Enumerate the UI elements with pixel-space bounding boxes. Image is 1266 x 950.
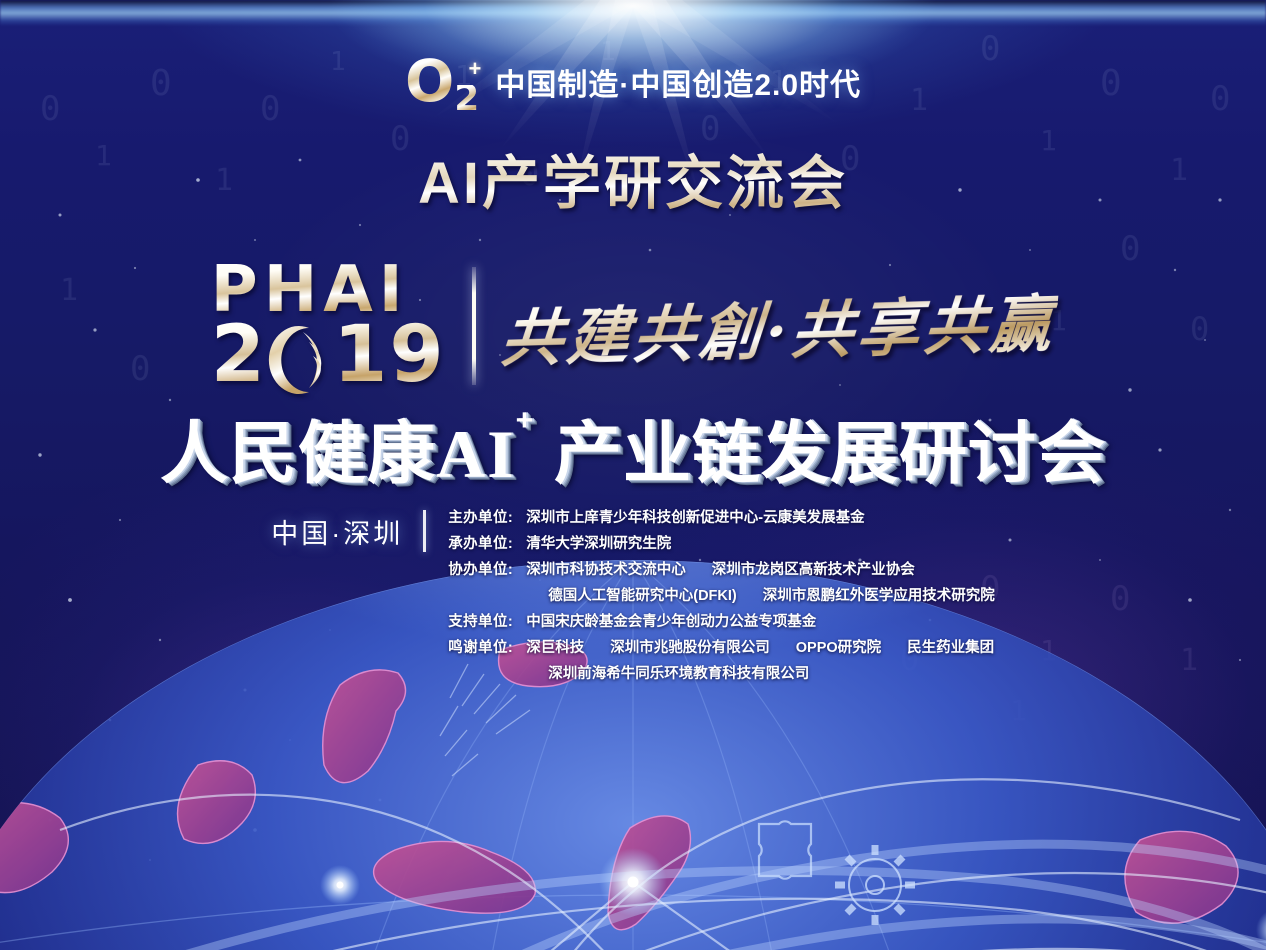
organizer-name: OPPO研究院 [796,636,881,657]
calligraphy-slogan: 共建共創·共享共赢 [497,273,1059,378]
city-divider [423,510,426,552]
organizer-name: 深圳市上庠青少年科技创新促进中心-云康美发展基金 [526,506,864,527]
organizer-line: 主办单位:深圳市上庠青少年科技创新促进中心-云康美发展基金 [448,506,995,527]
organizer-values: 深圳市科协技术交流中心深圳市龙岗区高新技术产业协会 [526,558,915,579]
organizer-name: 深圳市恩鹏红外医学应用技术研究院 [763,584,995,605]
feather-swoosh-icon [267,316,333,394]
city-block: 中国·深圳 [271,504,426,552]
organizer-line: 支持单位:中国宋庆龄基金会青少年创动力公益专项基金 [448,610,995,631]
organizer-name: 德国人工智能研究中心(DFKI) [548,584,737,605]
credits-row: 中国·深圳 主办单位:深圳市上庠青少年科技创新促进中心-云康美发展基金承办单位:… [0,504,1266,683]
kicker-tagline: 中国制造·中国创造2.0时代 [495,60,861,104]
organizer-values: 深圳前海希牛同乐环境教育科技有限公司 [526,662,809,683]
organizer-line: 鸣谢单位:深圳前海希牛同乐环境教育科技有限公司 [448,662,995,683]
headline-part2: 产业链发展研讨会 [554,416,1106,492]
event-subtitle: AI产学研交流会 [0,136,1266,220]
organizer-values: 深圳市上庠青少年科技创新促进中心-云康美发展基金 [526,506,864,527]
organizer-name: 深圳前海希牛同乐环境教育科技有限公司 [548,662,809,683]
organizer-name: 中国宋庆龄基金会青少年创动力公益专项基金 [526,610,816,631]
organizer-label: 支持单位: [448,610,526,631]
kicker-row: O 2 + 中国制造·中国创造2.0时代 [0,58,1266,106]
organizer-label: 承办单位: [448,532,526,553]
organizer-name: 深圳市科协技术交流中心 [526,558,686,579]
organizer-list: 主办单位:深圳市上庠青少年科技创新促进中心-云康美发展基金承办单位:清华大学深圳… [448,504,995,683]
headline-plus-icon: + [516,404,535,437]
organizer-values: 清华大学深圳研究生院 [526,532,671,553]
plus-icon: + [468,56,481,82]
o2-logo-subscript: 2 [454,85,479,114]
organizer-line: 协办单位:深圳市科协技术交流中心深圳市龙岗区高新技术产业协会 [448,558,995,579]
conference-poster: 0 1 0 1 0 1 0 1 0 1 0 1 0 1 0 1 0 1 0 1 … [0,0,1266,950]
city-label: 中国·深圳 [271,512,403,551]
brand-divider [472,267,476,385]
organizer-values: 德国人工智能研究中心(DFKI)深圳市恩鹏红外医学应用技术研究院 [526,584,995,605]
phai-plus-icon: + [409,231,431,261]
year-prefix: 2 [211,316,267,394]
organizer-label: 协办单位: [448,558,526,579]
organizer-line: 协办单位:德国人工智能研究中心(DFKI)深圳市恩鹏红外医学应用技术研究院 [448,584,995,605]
organizer-label: 鸣谢单位: [448,636,526,657]
brand-row: PHAI+ 2 [0,258,1266,394]
o2-logo-o: O [405,58,453,106]
organizer-name: 深圳市龙岗区高新技术产业协会 [712,558,915,579]
phai-logo: PHAI+ 2 [211,258,446,394]
phai-year: 2 [211,316,446,394]
organizer-values: 中国宋庆龄基金会青少年创动力公益专项基金 [526,610,816,631]
organizer-name: 民生药业集团 [907,636,994,657]
organizer-name: 深圳市兆驰股份有限公司 [610,636,770,657]
organizer-values: 深巨科技深圳市兆驰股份有限公司OPPO研究院民生药业集团 [526,636,994,657]
o2-logo: O 2 + [405,58,479,106]
organizer-line: 承办单位:清华大学深圳研究生院 [448,532,995,553]
year-suffix: 19 [333,316,446,394]
event-headline: 人民健康AI+ 产业链发展研讨会 [0,398,1266,497]
headline-ai: AI [436,416,516,492]
organizer-name: 清华大学深圳研究生院 [526,532,671,553]
headline-part1: 人民健康 [160,416,436,492]
organizer-line: 鸣谢单位:深巨科技深圳市兆驰股份有限公司OPPO研究院民生药业集团 [448,636,995,657]
organizer-label: 主办单位: [448,506,526,527]
organizer-name: 深巨科技 [526,636,584,657]
